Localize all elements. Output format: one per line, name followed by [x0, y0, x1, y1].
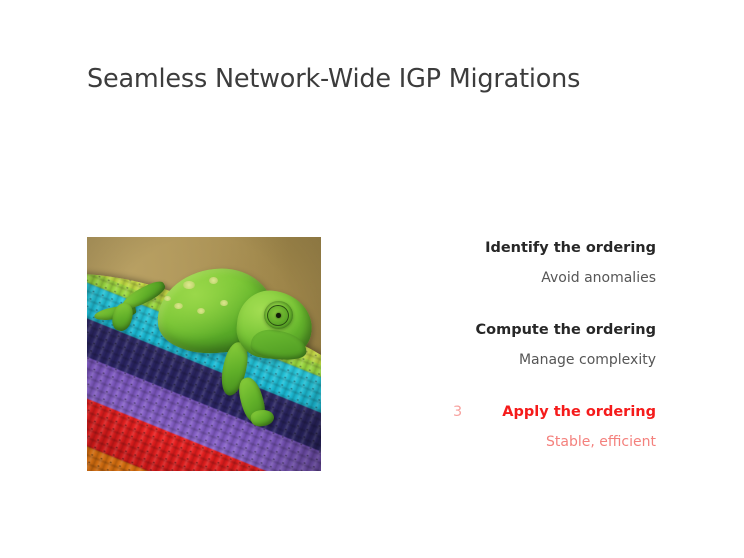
chameleon-spot — [209, 277, 219, 284]
photo-inner — [87, 237, 321, 471]
step-item-apply: 3 Apply the ordering Stable, efficient — [360, 401, 656, 453]
step-subtitle: Avoid anomalies — [360, 267, 656, 289]
step-subtitle: Manage complexity — [360, 349, 656, 371]
presentation-slide: Seamless Network-Wide IGP Migrations — [0, 0, 744, 558]
step-list: Identify the ordering Avoid anomalies Co… — [360, 237, 656, 453]
step-heading: Apply the ordering — [360, 401, 656, 423]
step-subtitle: Stable, efficient — [360, 431, 656, 453]
step-number: 3 — [453, 401, 462, 423]
page-title: Seamless Network-Wide IGP Migrations — [87, 64, 580, 94]
step-heading: Compute the ordering — [360, 319, 656, 341]
chameleon-spot — [220, 300, 227, 306]
chameleon-photo — [87, 237, 321, 471]
chameleon-spot — [174, 303, 183, 310]
chameleon-foot — [250, 409, 275, 428]
chameleon-spot — [164, 296, 171, 301]
chameleon-pupil — [276, 313, 281, 318]
step-heading: Identify the ordering — [360, 237, 656, 259]
chameleon-figure — [87, 237, 321, 471]
step-item-compute: Compute the ordering Manage complexity — [360, 319, 656, 371]
step-item-identify: Identify the ordering Avoid anomalies — [360, 237, 656, 289]
chameleon-eye-ring — [267, 305, 289, 326]
